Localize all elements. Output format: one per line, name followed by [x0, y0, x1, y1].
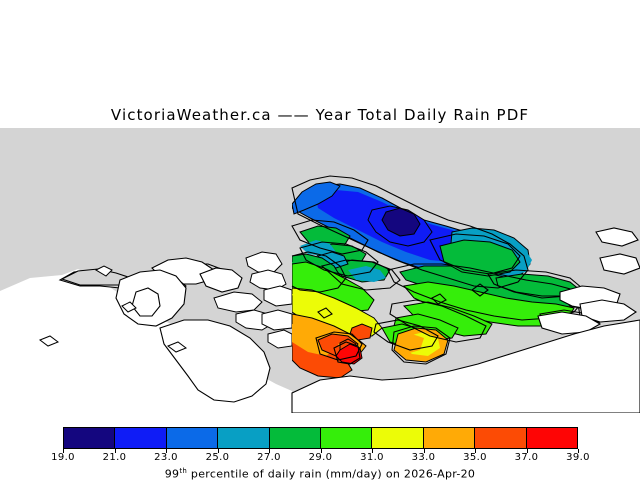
colorbar-tick-label: 21.0	[103, 452, 127, 463]
colorbar-tick-label: 23.0	[154, 452, 178, 463]
weather-map-page: VictoriaWeather.ca —— Year Total Daily R…	[0, 0, 640, 480]
colorbar-tick-label: 25.0	[206, 452, 230, 463]
colorbar[interactable]: 19.021.023.025.027.029.031.033.035.037.0…	[0, 415, 640, 480]
colorbar-bands[interactable]	[63, 427, 578, 449]
colorbar-band-23.0-25.0[interactable]	[167, 428, 218, 448]
colorbar-band-29.0-31.0[interactable]	[321, 428, 372, 448]
colorbar-tick-label: 35.0	[463, 452, 487, 463]
caption-post: percentile of daily rain (mm/day) on 202…	[187, 468, 475, 481]
colorbar-band-25.0-27.0[interactable]	[218, 428, 269, 448]
colorbar-tick-label: 27.0	[257, 452, 281, 463]
colorbar-tick-label: 31.0	[360, 452, 384, 463]
colorbar-band-31.0-33.0[interactable]	[372, 428, 423, 448]
colorbar-tick-label: 19.0	[51, 452, 75, 463]
colorbar-band-27.0-29.0[interactable]	[270, 428, 321, 448]
map-svg	[0, 128, 640, 413]
colorbar-band-21.0-23.0[interactable]	[115, 428, 166, 448]
colorbar-tick-label: 33.0	[412, 452, 436, 463]
colorbar-band-37.0-39.0[interactable]	[527, 428, 577, 448]
caption-superscript: th	[179, 467, 187, 475]
colorbar-band-33.0-35.0[interactable]	[424, 428, 475, 448]
colorbar-band-35.0-37.0[interactable]	[475, 428, 526, 448]
page-title: VictoriaWeather.ca —— Year Total Daily R…	[0, 106, 640, 124]
map-canvas[interactable]	[0, 128, 640, 413]
colorbar-caption: 99th percentile of daily rain (mm/day) o…	[0, 467, 640, 481]
caption-pre: 99	[165, 468, 180, 481]
colorbar-tick-label: 37.0	[515, 452, 539, 463]
colorbar-tick-label: 29.0	[309, 452, 333, 463]
colorbar-tick-labels: 19.021.023.025.027.029.031.033.035.037.0…	[0, 452, 640, 466]
colorbar-tick-label: 39.0	[566, 452, 590, 463]
colorbar-band-19.0-21.0[interactable]	[64, 428, 115, 448]
